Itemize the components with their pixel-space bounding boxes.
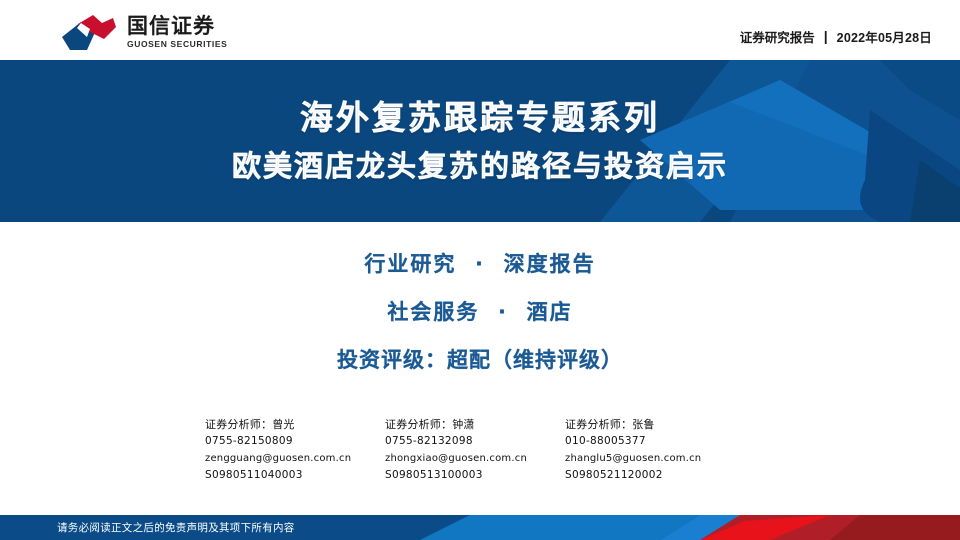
research-category-line: 行业研究 · 深度报告 — [364, 248, 595, 278]
report-cover-page: 国信证券 GUOSEN SECURITIES 证券研究报告 | 2022年05月… — [0, 0, 960, 540]
footer-disclaimer: 请务必阅读正文之后的免责声明及其项下所有内容 — [57, 515, 295, 540]
company-logo: 国信证券 GUOSEN SECURITIES — [60, 13, 227, 51]
analyst-list: 证券分析师：曾光 0755-82150809 zengguang@guosen.… — [205, 416, 765, 484]
analyst-phone: 0755-82132098 — [385, 433, 565, 450]
analyst-name: 证券分析师：钟潇 — [385, 416, 565, 433]
banner-title-stack: 海外复苏跟踪专题系列 欧美酒店龙头复苏的路径与投资启示 — [0, 60, 960, 222]
analyst-email[interactable]: zengguang@guosen.com.cn — [205, 450, 385, 467]
report-type-label: 证券研究报告 — [740, 27, 815, 46]
analyst-phone: 010-88005377 — [565, 433, 745, 450]
analyst-license-code: S0980511040003 — [205, 467, 385, 484]
investment-rating-line: 投资评级：超配（维持评级） — [337, 344, 623, 374]
logo-name-cn: 国信证券 — [127, 15, 227, 38]
report-title: 海外复苏跟踪专题系列 — [300, 99, 660, 137]
report-subtitle: 欧美酒店龙头复苏的路径与投资启示 — [232, 149, 728, 183]
sector-line: 社会服务 · 酒店 — [387, 296, 572, 326]
analyst-name: 证券分析师：曾光 — [205, 416, 385, 433]
logo-wordmark: 国信证券 GUOSEN SECURITIES — [127, 15, 227, 50]
analyst-phone: 0755-82150809 — [205, 433, 385, 450]
header-meta: 证券研究报告 | 2022年05月28日 — [740, 27, 932, 46]
logo-name-en: GUOSEN SECURITIES — [127, 39, 227, 50]
analyst-license-code: S0980513100003 — [385, 467, 565, 484]
analyst-email[interactable]: zhongxiao@guosen.com.cn — [385, 450, 565, 467]
analyst-card: 证券分析师：曾光 0755-82150809 zengguang@guosen.… — [205, 416, 385, 484]
header-separator: | — [824, 28, 828, 44]
analyst-name: 证券分析师：张鲁 — [565, 416, 745, 433]
report-meta-section: 行业研究 · 深度报告 社会服务 · 酒店 投资评级：超配（维持评级） — [0, 222, 960, 402]
analyst-card: 证券分析师：张鲁 010-88005377 zhanglu5@guosen.co… — [565, 416, 745, 484]
analyst-email[interactable]: zhanglu5@guosen.com.cn — [565, 450, 745, 467]
guosen-logo-icon — [60, 13, 118, 51]
title-banner: 海外复苏跟踪专题系列 欧美酒店龙头复苏的路径与投资启示 — [0, 60, 960, 222]
page-footer: 请务必阅读正文之后的免责声明及其项下所有内容 — [0, 515, 960, 540]
report-date: 2022年05月28日 — [837, 27, 932, 46]
analyst-license-code: S0980521120002 — [565, 467, 745, 484]
analyst-card: 证券分析师：钟潇 0755-82132098 zhongxiao@guosen.… — [385, 416, 565, 484]
page-header: 国信证券 GUOSEN SECURITIES 证券研究报告 | 2022年05月… — [0, 0, 960, 60]
